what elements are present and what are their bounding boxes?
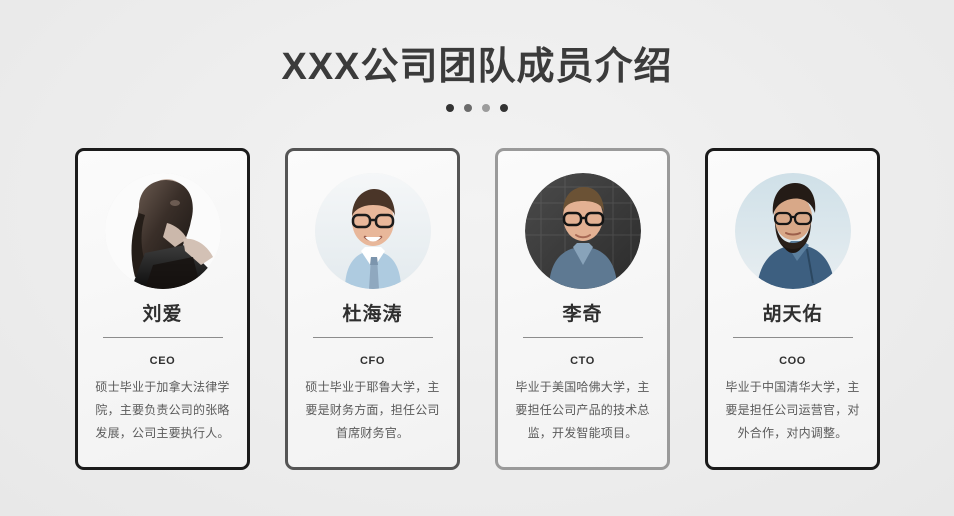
divider (103, 337, 223, 338)
portrait-man-beard-glasses-denim-image (735, 173, 851, 289)
avatar (105, 173, 221, 289)
slide-canvas: XXX公司团队成员介绍 (0, 0, 954, 516)
member-name: 刘爱 (142, 303, 182, 327)
member-description: 硕士毕业于加拿大法律学院，主要负责公司的张略发展，公司主要执行人。 (91, 376, 235, 445)
divider (523, 337, 643, 338)
member-description: 毕业于美国哈佛大学，主要担任公司产品的技术总监，开发智能项目。 (511, 376, 655, 445)
team-member-card-2[interactable]: 杜海涛 CFO 硕士毕业于耶鲁大学，主要是财务方面，担任公司首席财务官。 (285, 148, 460, 470)
team-member-cards: 刘爱 CEO 硕士毕业于加拿大法律学院，主要负责公司的张略发展，公司主要执行人。 (75, 148, 880, 470)
avatar (735, 173, 851, 289)
portrait-woman-long-hair-bw-image (105, 173, 221, 289)
member-name: 杜海涛 (342, 303, 402, 327)
member-role: CFO (360, 355, 385, 367)
portrait-man-glasses-denim-shirt-image (525, 173, 641, 289)
member-role: CTO (570, 355, 595, 367)
member-role: COO (779, 355, 806, 367)
page-title: XXX公司团队成员介绍 (0, 44, 954, 90)
divider (313, 337, 433, 338)
member-name: 李奇 (562, 303, 602, 327)
dot-3-icon (482, 104, 490, 112)
dot-decoration (0, 104, 954, 112)
dot-4-icon (500, 104, 508, 112)
avatar (315, 173, 431, 289)
member-description: 硕士毕业于耶鲁大学，主要是财务方面，担任公司首席财务官。 (301, 376, 445, 445)
team-member-card-1[interactable]: 刘爱 CEO 硕士毕业于加拿大法律学院，主要负责公司的张略发展，公司主要执行人。 (75, 148, 250, 470)
dot-1-icon (446, 104, 454, 112)
team-member-card-4[interactable]: 胡天佑 COO 毕业于中国清华大学，主要是担任公司运营官，对外合作，对内调整。 (705, 148, 880, 470)
divider (733, 337, 853, 338)
member-name: 胡天佑 (762, 303, 822, 327)
member-role: CEO (150, 355, 176, 367)
team-member-card-3[interactable]: 李奇 CTO 毕业于美国哈佛大学，主要担任公司产品的技术总监，开发智能项目。 (495, 148, 670, 470)
portrait-man-glasses-tie-image (315, 173, 431, 289)
member-description: 毕业于中国清华大学，主要是担任公司运营官，对外合作，对内调整。 (721, 376, 865, 445)
avatar (525, 173, 641, 289)
header: XXX公司团队成员介绍 (0, 44, 954, 112)
dot-2-icon (464, 104, 472, 112)
